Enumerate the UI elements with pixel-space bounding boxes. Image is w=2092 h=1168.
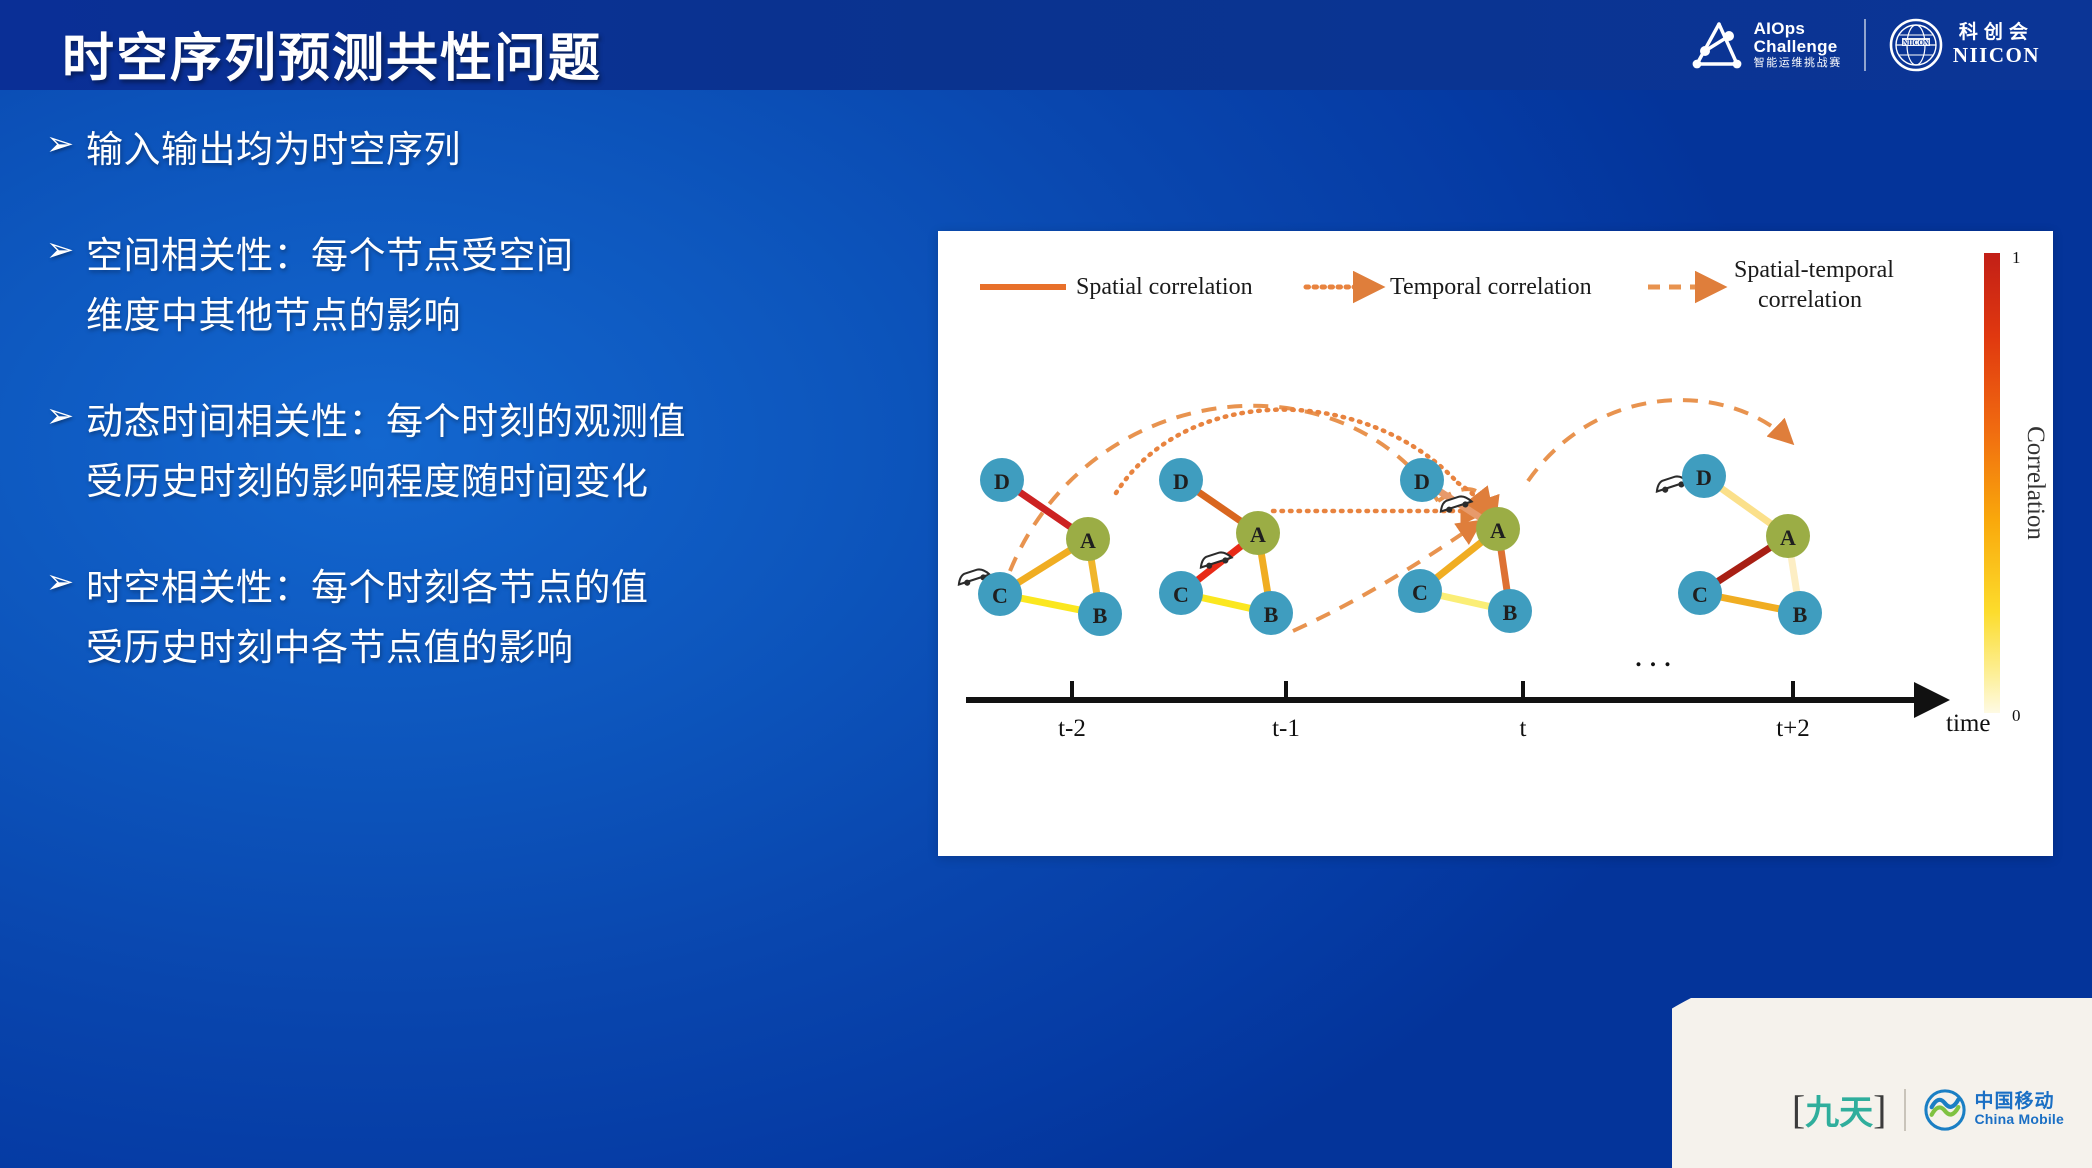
node-label-D: D — [1173, 469, 1189, 494]
bullet-item-3: ➢ 动态时间相关性：每个时刻的观测值 受历史时刻的影响程度随时间变化 — [34, 392, 904, 512]
colorbar-max-label: 1 — [2012, 248, 2021, 267]
corner-shape — [1672, 998, 2092, 1168]
bullet-text-4: 时空相关性：每个时刻各节点的值 受历史时刻中各节点值的影响 — [86, 558, 649, 678]
bullet-line: 输入输出均为时空序列 — [86, 120, 461, 180]
jiutian-bracket-right: ] — [1873, 1086, 1886, 1133]
snapshot-t-plus-2: D A C B — [1654, 454, 1822, 635]
bullet-text-2: 空间相关性：每个节点受空间 维度中其他节点的影响 — [86, 226, 574, 346]
aiops-logo: AIOps Challenge 智能运维挑战赛 — [1689, 18, 1842, 72]
snapshot-t-1: D A C B — [1159, 458, 1293, 635]
colorbar-gradient — [1984, 253, 2000, 713]
bullet-item-4: ➢ 时空相关性：每个时刻各节点的值 受历史时刻中各节点值的影响 — [34, 558, 904, 678]
slide-root: 时空序列预测共性问题 AIOps Challenge 智能运维挑战赛 — [0, 0, 2092, 1168]
node-label-D: D — [1414, 469, 1430, 494]
niicon-logo: NIICON 科创会 NIICON — [1888, 17, 2040, 73]
legend-label-spatial: Spatial correlation — [1076, 274, 1253, 300]
node-label-B: B — [1503, 600, 1518, 625]
bullet-marker-icon: ➢ — [34, 226, 86, 346]
figure-panel: Spatial correlation Temporal correlation… — [938, 231, 2053, 856]
slide-header: 时空序列预测共性问题 AIOps Challenge 智能运维挑战赛 — [0, 0, 2092, 90]
header-logo-group: AIOps Challenge 智能运维挑战赛 NIICON — [1689, 14, 2040, 76]
node-label-C: C — [1173, 582, 1189, 607]
axis-tick-label-3: t+2 — [1776, 715, 1810, 742]
bullet-text-3: 动态时间相关性：每个时刻的观测值 受历史时刻的影响程度随时间变化 — [86, 392, 686, 512]
axis-tick-label-2: t — [1520, 715, 1527, 742]
jiutian-logo-cn: 九天 — [1805, 1085, 1873, 1134]
legend-label-temporal: Temporal correlation — [1390, 274, 1592, 300]
aiops-logo-line3: 智能运维挑战赛 — [1754, 58, 1842, 70]
svg-text:NIICON: NIICON — [1903, 39, 1929, 47]
time-axis: t-2 t-1 t t+2 ... time — [966, 637, 1990, 742]
china-mobile-icon — [1924, 1089, 1966, 1131]
bullet-marker-icon: ➢ — [34, 120, 86, 180]
bullet-text-1: 输入输出均为时空序列 — [86, 120, 461, 180]
jiutian-bracket-left: [ — [1792, 1086, 1805, 1133]
aiops-logo-line1: AIOps — [1754, 20, 1842, 38]
bullet-list: ➢ 输入输出均为时空序列 ➢ 空间相关性：每个节点受空间 维度中其他节点的影响 … — [34, 120, 904, 724]
bullet-line: 受历史时刻中各节点值的影响 — [86, 618, 649, 678]
bullet-line: 维度中其他节点的影响 — [86, 286, 574, 346]
axis-label-time: time — [1946, 710, 1990, 737]
footer-corner: [ 九天 ] 中国移动 China Mobile — [1672, 998, 2092, 1168]
niicon-logo-en: NIICON — [1953, 44, 2040, 67]
bullet-item-2: ➢ 空间相关性：每个节点受空间 维度中其他节点的影响 — [34, 226, 904, 346]
bullet-line: 时空相关性：每个时刻各节点的值 — [86, 558, 649, 618]
node-label-D: D — [1696, 465, 1712, 490]
footer-logo-divider — [1904, 1089, 1906, 1131]
aiops-logo-line2: Challenge — [1754, 38, 1842, 56]
st-arrow-3 — [1528, 400, 1790, 481]
node-label-B: B — [1264, 602, 1279, 627]
node-label-A: A — [1490, 518, 1506, 543]
node-label-C: C — [1692, 582, 1708, 607]
bullet-line: 受历史时刻的影响程度随时间变化 — [86, 452, 686, 512]
bullet-marker-icon: ➢ — [34, 392, 86, 512]
bullet-line: 动态时间相关性：每个时刻的观测值 — [86, 392, 686, 452]
china-mobile-logo: 中国移动 China Mobile — [1924, 1089, 2064, 1131]
axis-ellipsis: ... — [1634, 637, 1678, 674]
legend-label-spatiotemporal-1: Spatial-temporal — [1734, 257, 1894, 283]
node-label-C: C — [1412, 580, 1428, 605]
node-label-A: A — [1780, 525, 1796, 550]
colorbar-label: Correlation — [2022, 426, 2049, 540]
page-title: 时空序列预测共性问题 — [62, 16, 602, 91]
node-label-B: B — [1793, 602, 1808, 627]
bullet-marker-icon: ➢ — [34, 558, 86, 678]
node-label-B: B — [1093, 603, 1108, 628]
niicon-globe-icon: NIICON — [1888, 17, 1944, 73]
colorbar-min-label: 0 — [2012, 706, 2021, 725]
niicon-logo-cn: 科创会 — [1953, 23, 2040, 44]
china-mobile-en: China Mobile — [1974, 1112, 2064, 1128]
axis-tick-label-1: t-1 — [1272, 715, 1300, 742]
jiutian-logo: [ 九天 ] — [1792, 1085, 1887, 1134]
china-mobile-cn: 中国移动 — [1974, 1091, 2064, 1112]
figure-legend: Spatial correlation Temporal correlation… — [980, 257, 1894, 313]
colorbar: 1 0 Correlation — [1984, 248, 2049, 725]
footer-logo-group: [ 九天 ] 中国移动 China Mobile — [1792, 1085, 2064, 1134]
axis-tick-label-0: t-2 — [1058, 715, 1086, 742]
snapshot-t-2: D A C B — [956, 458, 1122, 636]
node-label-A: A — [1080, 528, 1096, 553]
spatiotemporal-diagram: Spatial correlation Temporal correlation… — [938, 231, 2053, 856]
logo-divider — [1864, 19, 1866, 71]
node-label-D: D — [994, 469, 1010, 494]
bullet-item-1: ➢ 输入输出均为时空序列 — [34, 120, 904, 180]
aiops-triangle-icon — [1689, 18, 1745, 72]
snapshot-t: D A C B — [1398, 458, 1532, 633]
st-arrow-2 — [1293, 523, 1478, 631]
legend-label-spatiotemporal-2: correlation — [1758, 287, 1862, 313]
node-label-A: A — [1250, 522, 1266, 547]
node-label-C: C — [992, 583, 1008, 608]
bullet-line: 空间相关性：每个节点受空间 — [86, 226, 574, 286]
